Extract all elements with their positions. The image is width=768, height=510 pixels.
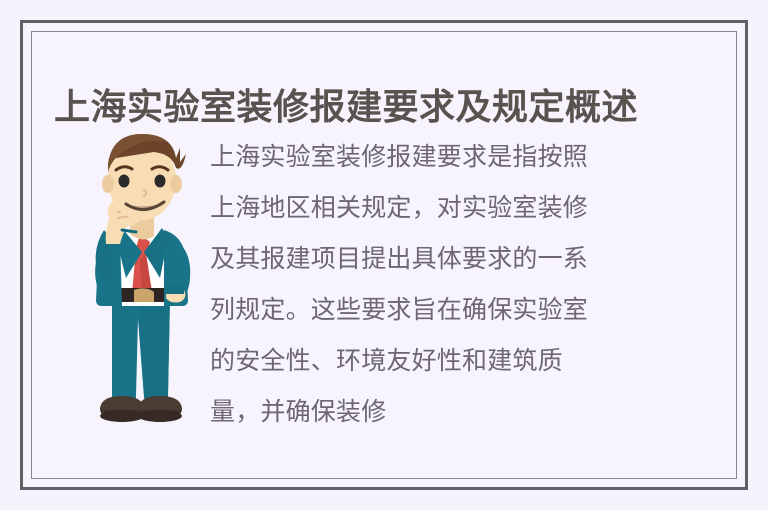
article-body-text: 上海实验室装修报建要求是指按照上海地区相关规定，对实验室装修及其报建项目提出具体… (210, 132, 595, 438)
card-content: 上海实验室装修报建要求及规定概述 (32, 32, 736, 478)
card-inner-frame: 上海实验室装修报建要求及规定概述 (31, 31, 737, 479)
card-outer-frame: 上海实验室装修报建要求及规定概述 (20, 20, 748, 490)
page-title: 上海实验室装修报建要求及规定概述 (54, 84, 704, 130)
thinking-businessman-illustration (60, 128, 220, 434)
screenshot-canvas: 上海实验室装修报建要求及规定概述 (0, 0, 768, 510)
